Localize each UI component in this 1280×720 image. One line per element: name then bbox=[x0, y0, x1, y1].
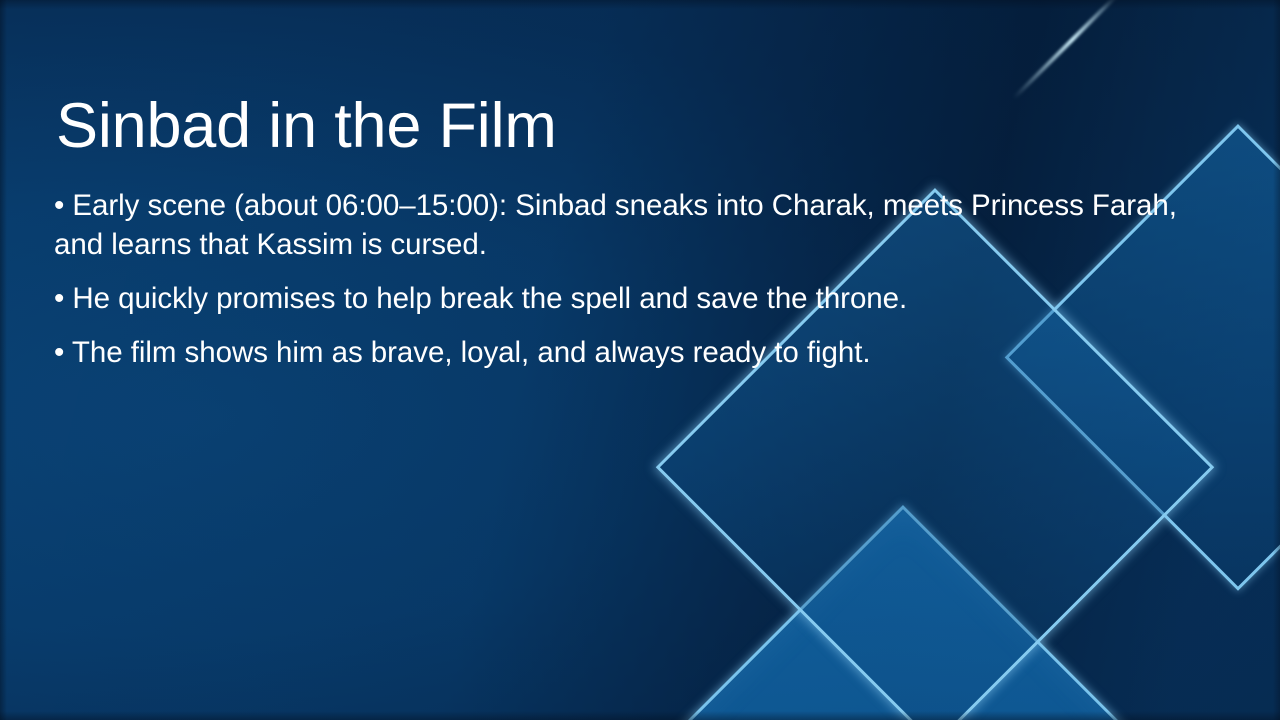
slide-body-content: • Early scene (about 06:00–15:00): Sinba… bbox=[54, 186, 1182, 372]
presentation-slide: Sinbad in the Film • Early scene (about … bbox=[0, 0, 1280, 720]
bullet-item-1: • Early scene (about 06:00–15:00): Sinba… bbox=[54, 186, 1182, 264]
bullet-item-2: • He quickly promises to help break the … bbox=[54, 279, 1182, 318]
bullet-item-3: • The film shows him as brave, loyal, an… bbox=[54, 333, 1182, 372]
slide-title: Sinbad in the Film bbox=[56, 92, 1206, 160]
